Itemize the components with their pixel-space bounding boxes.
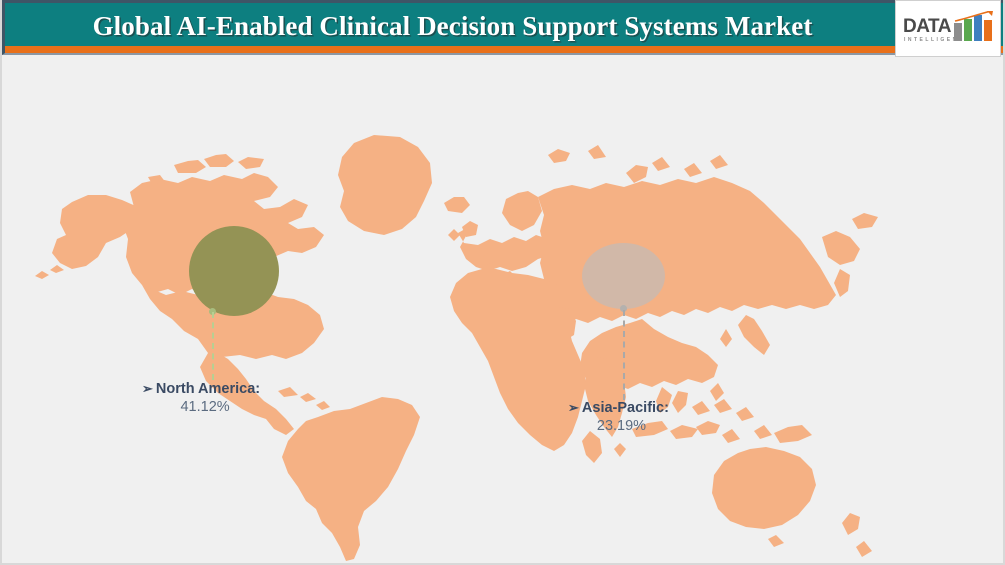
region-bubble-asia-pacific[interactable] bbox=[582, 243, 665, 309]
logo-wordmark: DATA bbox=[903, 16, 951, 38]
bullet-arrow-icon: ➢ bbox=[568, 400, 579, 415]
callout-north-america-value: 41.12% bbox=[142, 399, 260, 415]
callout-asia-pacific-label: Asia-Pacific: bbox=[582, 400, 669, 416]
bullet-arrow-icon: ➢ bbox=[142, 381, 153, 396]
landmass-group bbox=[35, 135, 878, 561]
callout-north-america-label: North America: bbox=[156, 381, 260, 397]
region-bubble-north-america[interactable] bbox=[189, 226, 279, 316]
page-title: Global AI-Enabled Clinical Decision Supp… bbox=[5, 3, 900, 49]
callout-north-america-title: ➢North America: bbox=[142, 381, 260, 397]
brand-logo: DATA INTELLIGENCE bbox=[895, 0, 1001, 57]
world-map-graphic bbox=[2, 57, 1005, 565]
slide-canvas: Global AI-Enabled Clinical Decision Supp… bbox=[0, 0, 1005, 565]
callout-north-america: ➢North America: 41.12% bbox=[142, 381, 260, 415]
logo-bar-chart-icon bbox=[954, 11, 996, 41]
header-accent-bar bbox=[2, 46, 1005, 55]
callout-asia-pacific-value: 23.19% bbox=[568, 418, 669, 434]
callout-asia-pacific-title: ➢Asia-Pacific: bbox=[568, 400, 669, 416]
leader-line-north-america bbox=[212, 312, 214, 380]
callout-asia-pacific: ➢Asia-Pacific: 23.19% bbox=[568, 400, 669, 434]
leader-line-asia-pacific bbox=[623, 310, 625, 400]
header-band: Global AI-Enabled Clinical Decision Supp… bbox=[2, 0, 1005, 46]
world-map-container bbox=[2, 57, 1005, 565]
